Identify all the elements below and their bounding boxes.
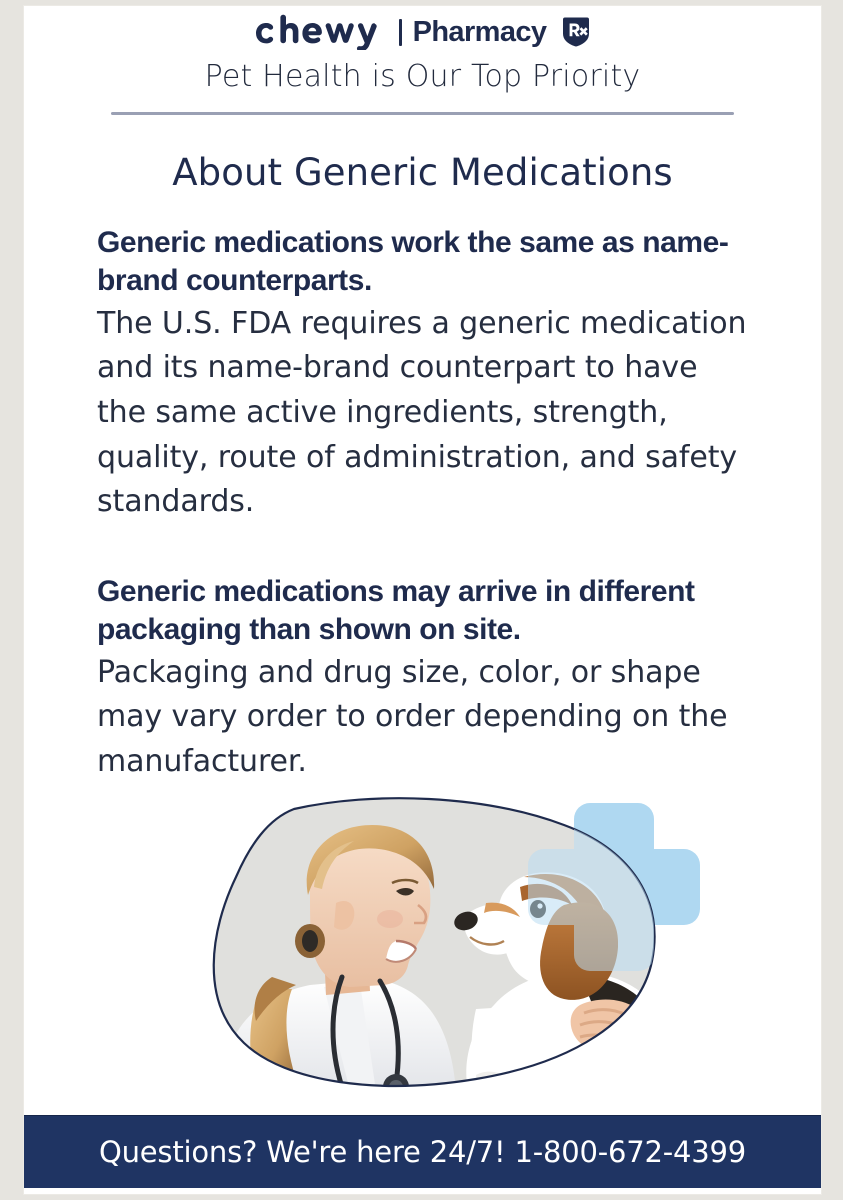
section-generic-work-same: Generic medications work the same as nam… (97, 224, 749, 525)
card-header: Pharmacy Pet Health is Our Top Priority (24, 6, 821, 115)
section-paragraph: The U.S. FDA requires a generic medicati… (97, 302, 749, 525)
contact-footer-banner: Questions? We're here 24/7! 1-800-672-43… (24, 1115, 821, 1188)
illustration-area (24, 791, 821, 1091)
pharmacy-info-card: Pharmacy Pet Health is Our Top Priority (24, 6, 821, 1194)
page-title: About Generic Medications (24, 151, 821, 194)
ring-icon (624, 1033, 636, 1042)
header-divider (111, 112, 734, 115)
rx-shield-icon (557, 14, 593, 50)
brand-lockup: Pharmacy (24, 12, 821, 52)
vet-hand (571, 999, 651, 1056)
tagline: Pet Health is Our Top Priority (24, 59, 821, 94)
chewy-logo-icon (252, 14, 388, 50)
section-paragraph: Packaging and drug size, color, or shape… (97, 651, 749, 785)
brand-separator-icon (399, 19, 402, 46)
section-heading: Generic medications may arrive in differ… (97, 573, 749, 649)
content-body: Generic medications work the same as nam… (24, 224, 821, 785)
page-background: Pharmacy Pet Health is Our Top Priority (0, 0, 843, 1200)
pharmacy-label: Pharmacy (413, 16, 547, 49)
veterinarian-with-beagle-photo (24, 791, 821, 1091)
footer-contact-text[interactable]: Questions? We're here 24/7! 1-800-672-43… (99, 1135, 746, 1169)
section-generic-packaging: Generic medications may arrive in differ… (97, 573, 749, 785)
section-heading: Generic medications work the same as nam… (97, 224, 749, 300)
